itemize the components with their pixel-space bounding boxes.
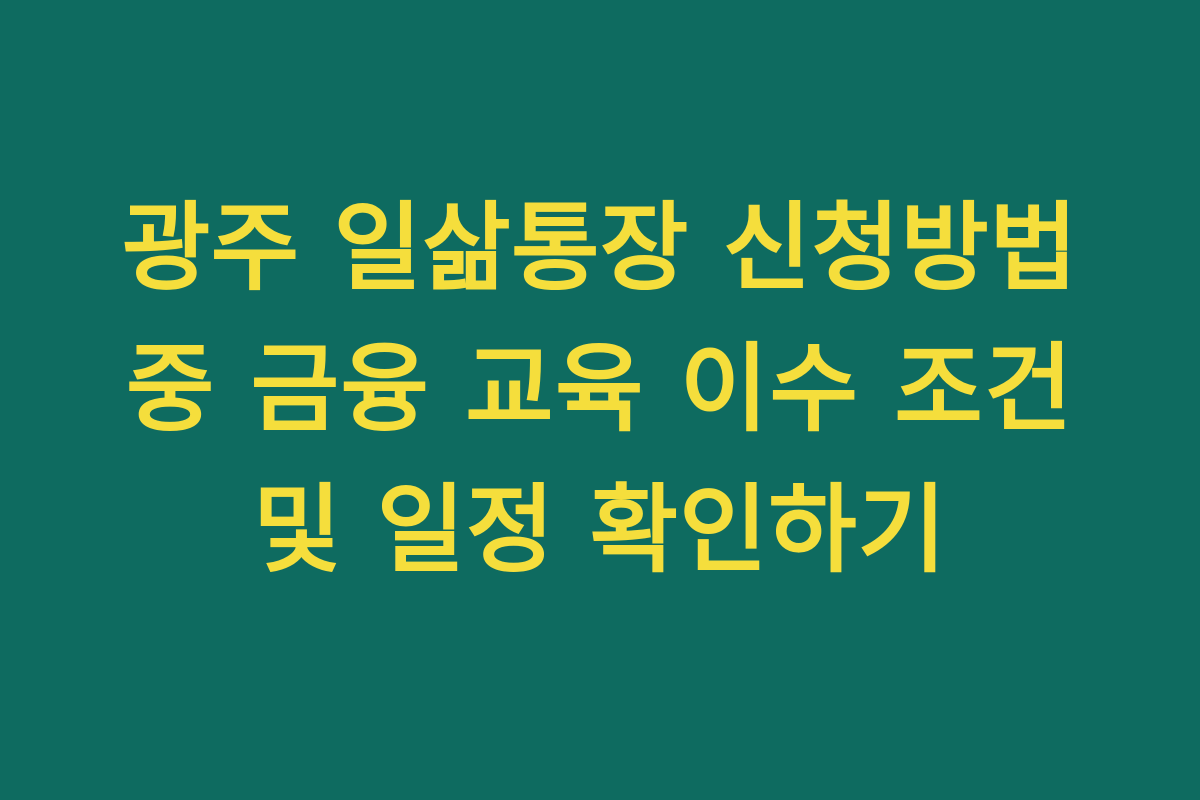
headline-line-2: 중 금융 교육 이수 조건 bbox=[40, 319, 1160, 460]
headline-line-3: 및 일정 확인하기 bbox=[40, 460, 1160, 601]
headline-line-1: 광주 일삶통장 신청방법 bbox=[40, 178, 1160, 319]
title-card: 광주 일삶통장 신청방법 중 금융 교육 이수 조건 및 일정 확인하기 bbox=[0, 0, 1200, 800]
page-title: 광주 일삶통장 신청방법 중 금융 교육 이수 조건 및 일정 확인하기 bbox=[40, 178, 1160, 601]
